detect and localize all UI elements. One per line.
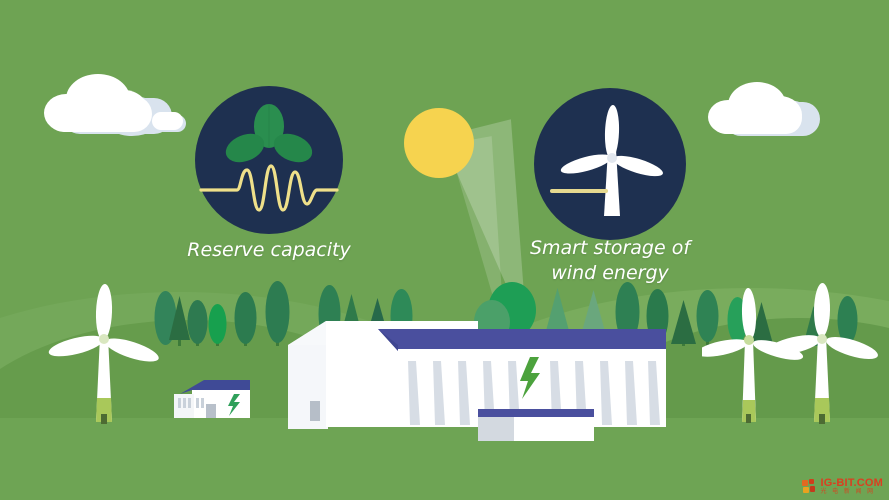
watermark-main-text: IG-BIT.COM [821, 478, 884, 489]
illustration-canvas: Reserve capacity Smart storage of wind e… [0, 0, 889, 500]
wind-turbine-right-near [776, 248, 889, 426]
sun [404, 108, 474, 178]
small-house [172, 374, 268, 422]
cloud-right [708, 82, 820, 136]
ig-bit-watermark: IG-BIT.COM 光 电 新 闻 网 [802, 478, 884, 495]
tree [235, 292, 257, 346]
storage-factory [278, 305, 678, 445]
cloud-left-small [152, 112, 186, 132]
leaves-waveform-icon [195, 86, 343, 234]
badge-caption-reserve-capacity: Reserve capacity [147, 238, 391, 263]
badge-smart-storage[interactable]: Smart storage of wind energy [534, 88, 686, 244]
watermark-sub-text: 光 电 新 闻 网 [821, 489, 884, 495]
badge-reserve-capacity[interactable]: Reserve capacity [195, 86, 343, 238]
tree [188, 300, 208, 346]
wind-turbine-left [34, 246, 164, 426]
badge-caption-smart-storage: Smart storage of wind energy [490, 236, 730, 286]
wind-turbine-icon [534, 88, 686, 240]
watermark-logo-icon [802, 479, 818, 495]
tree [209, 304, 227, 346]
